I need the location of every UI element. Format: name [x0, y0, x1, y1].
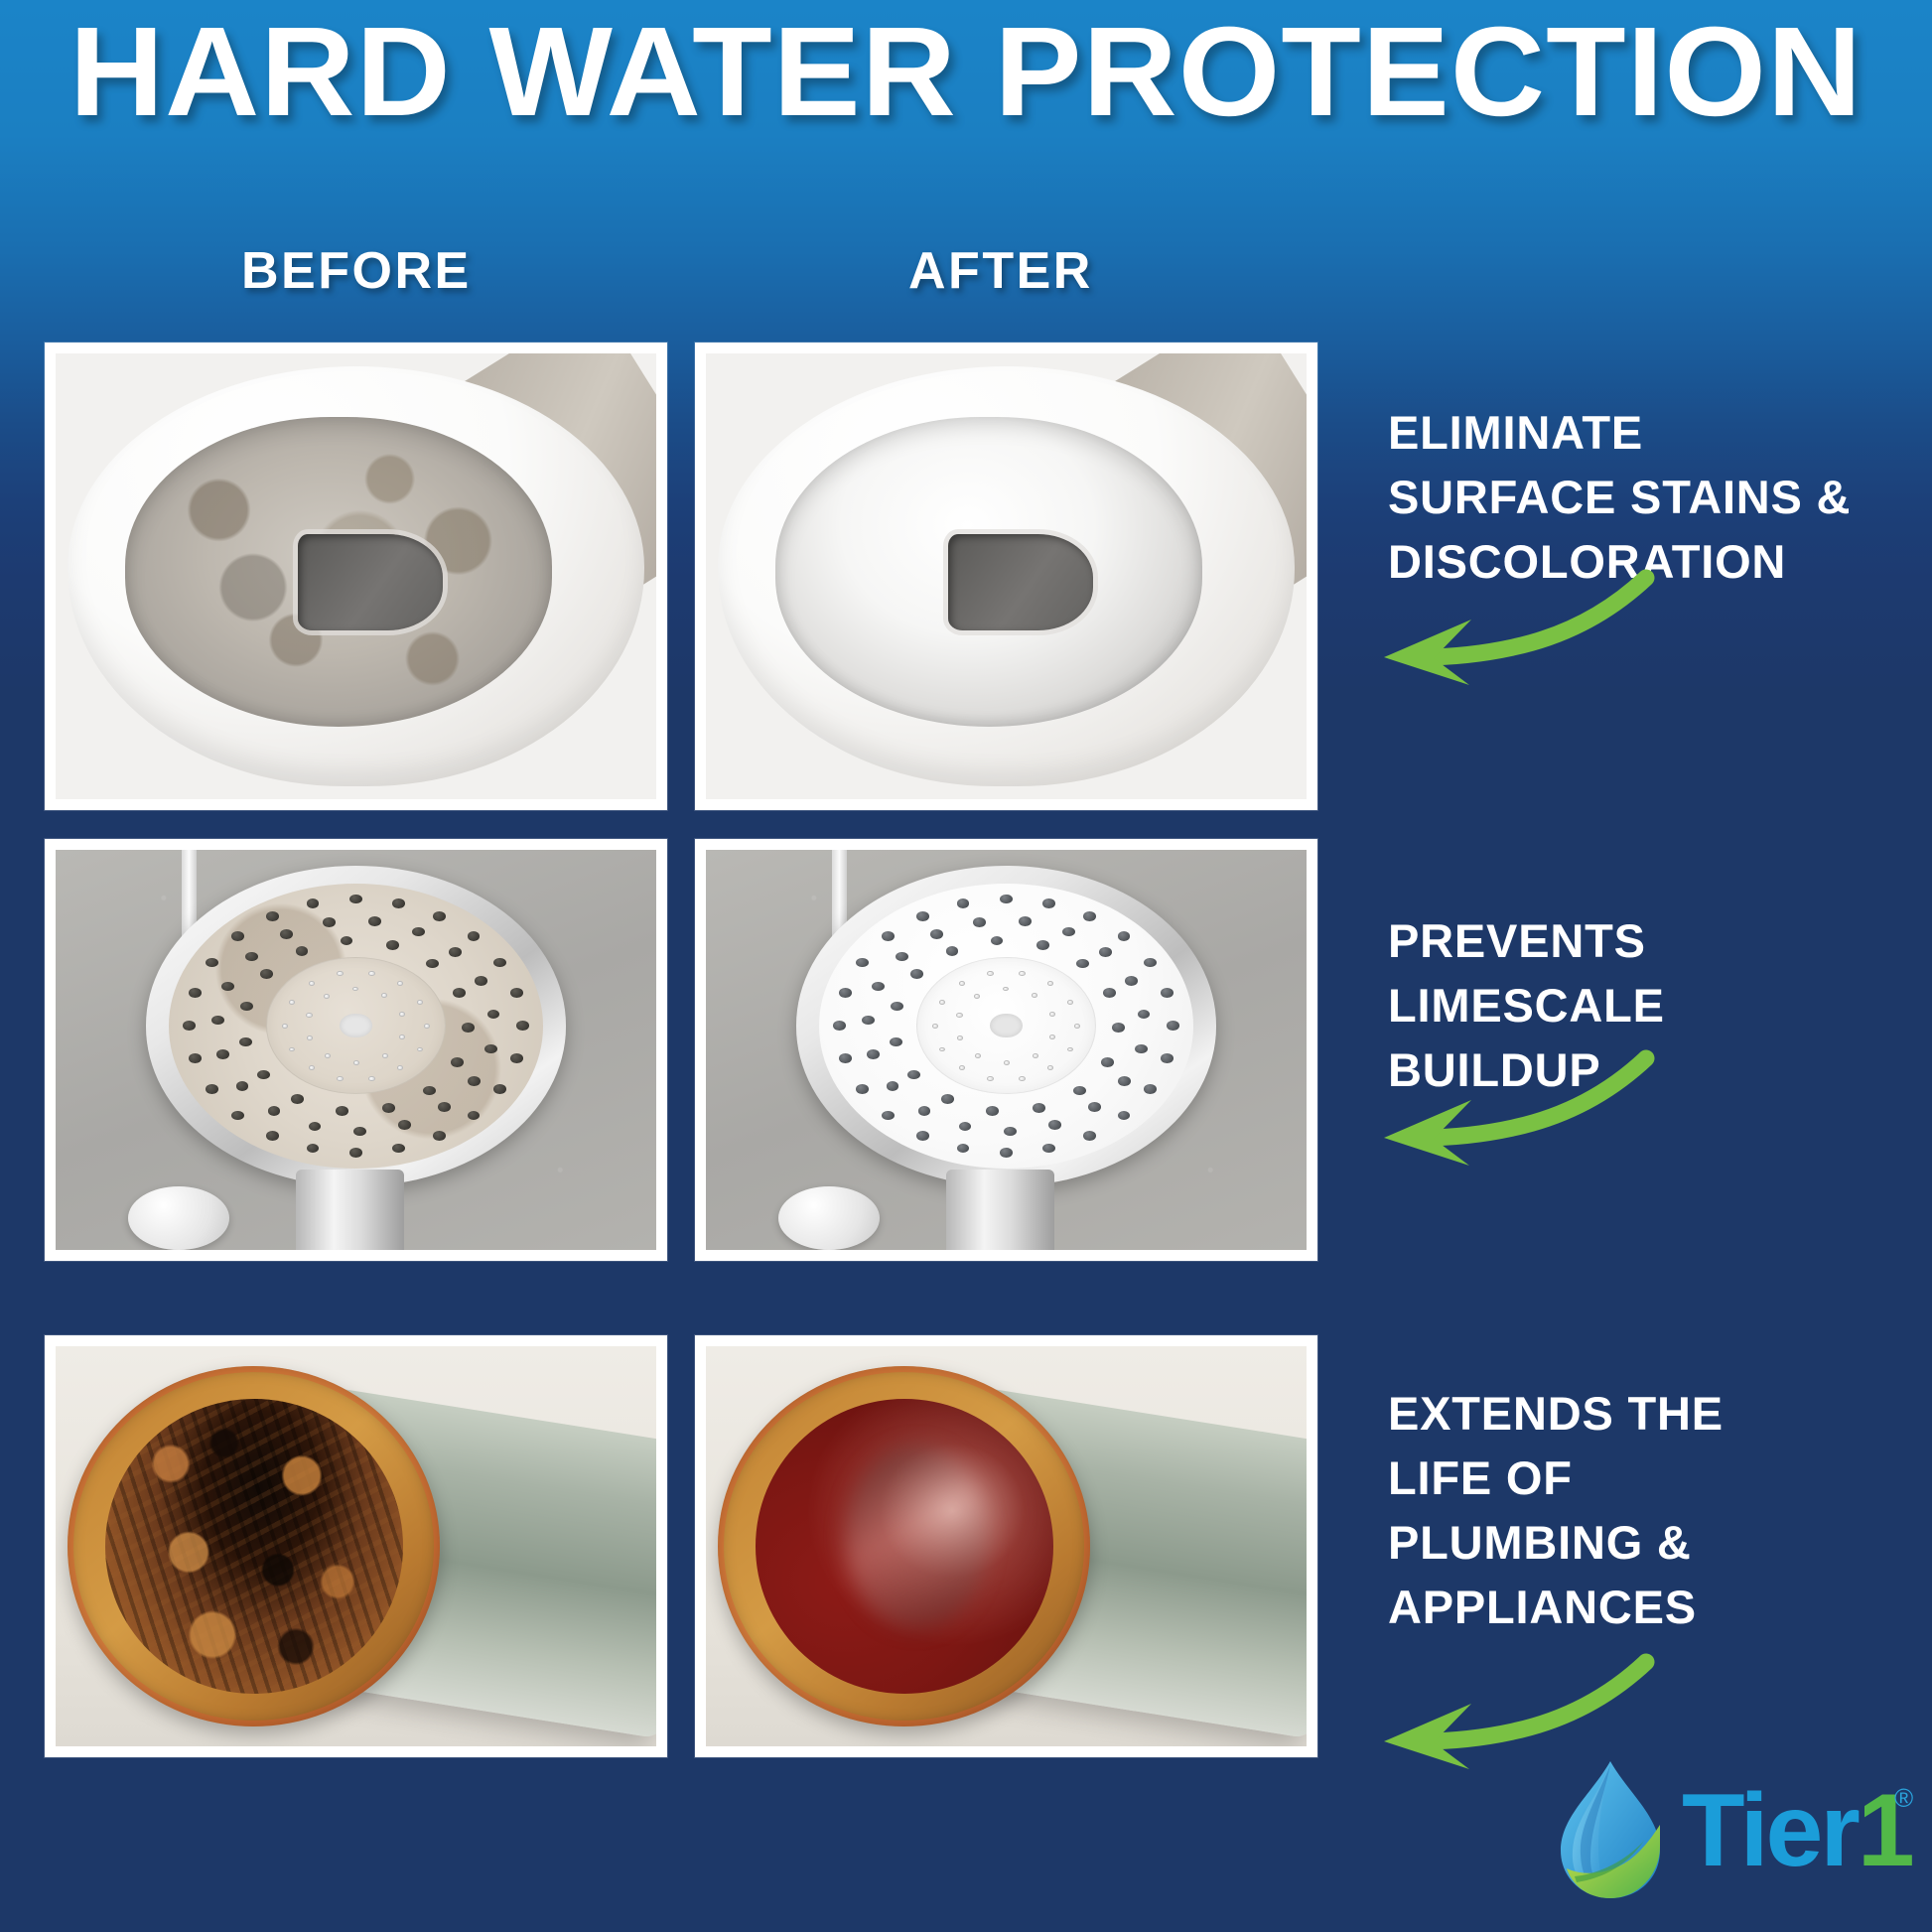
shower-nozzle — [856, 958, 869, 968]
shower-mist-nozzle — [382, 1053, 388, 1058]
shower-nozzle — [245, 952, 258, 962]
shower-nozzle — [1118, 1076, 1131, 1086]
feature-line: ELIMINATE — [1388, 401, 1924, 466]
shower-nozzle — [309, 1122, 322, 1132]
panel-pipe-after[interactable] — [695, 1335, 1317, 1757]
shower-nozzle — [386, 940, 399, 950]
panel-pipe-before[interactable] — [45, 1335, 667, 1757]
shower-nozzle — [1112, 1023, 1125, 1033]
showerhead-body — [146, 866, 567, 1185]
shower-nozzle — [916, 1131, 929, 1141]
shower-nozzle — [973, 917, 986, 927]
shower-mist-nozzle — [932, 1024, 938, 1029]
panel-showerhead-before[interactable] — [45, 839, 667, 1261]
photo-pipe-clean — [706, 1346, 1307, 1746]
shower-mist-nozzle — [956, 1013, 962, 1018]
shower-mist-nozzle — [309, 981, 315, 986]
shower-mist-nozzle — [1019, 971, 1025, 976]
water-drop-leaf-icon — [1545, 1755, 1672, 1909]
shower-nozzle — [1118, 931, 1131, 941]
shower-nozzle — [833, 1021, 846, 1031]
shower-nozzle — [1004, 1127, 1017, 1137]
shower-nozzle — [862, 1016, 875, 1026]
shower-nozzle — [353, 1127, 366, 1137]
shower-nozzle — [231, 931, 244, 941]
shower-nozzle — [930, 929, 943, 939]
shower-nozzle — [453, 988, 466, 998]
pipe-inner-lip — [68, 1366, 440, 1726]
toilet-drain-hole — [948, 534, 1092, 630]
shower-nozzle — [323, 917, 336, 927]
feature-line: PLUMBING & — [1388, 1511, 1924, 1576]
shower-nozzle — [867, 1049, 880, 1059]
shower-nozzle — [475, 976, 487, 986]
shower-nozzle — [231, 1111, 244, 1121]
shower-nozzle — [221, 982, 234, 992]
shower-nozzle — [341, 936, 353, 946]
shower-nozzle — [1101, 1057, 1114, 1067]
toilet-rim — [68, 366, 644, 785]
showerhead-hub — [990, 1014, 1022, 1037]
shower-nozzle — [382, 1103, 395, 1113]
shower-mist-nozzle — [959, 981, 965, 986]
shower-nozzle — [392, 898, 405, 908]
showerhead-center-disc — [916, 957, 1096, 1094]
showerhead-hub — [340, 1014, 371, 1037]
shower-nozzle — [206, 1084, 218, 1094]
shower-nozzle — [986, 1106, 999, 1116]
shower-mist-nozzle — [1074, 1024, 1080, 1029]
shower-nozzle — [510, 1053, 523, 1063]
infographic-root: HARD WATER PROTECTION BEFORE AFTER — [0, 0, 1932, 1932]
shower-nozzle — [957, 898, 970, 908]
shower-nozzle — [468, 931, 481, 941]
shower-nozzle — [1036, 940, 1049, 950]
shower-nozzle — [1048, 1120, 1061, 1130]
shower-nozzle — [991, 936, 1004, 946]
curved-arrow-icon — [1364, 1044, 1662, 1176]
shower-mist-nozzle — [1049, 1012, 1055, 1017]
shower-nozzle — [266, 1131, 279, 1141]
feature-line: APPLIANCES — [1388, 1576, 1924, 1640]
shower-mist-nozzle — [282, 1024, 288, 1029]
shower-nozzle — [189, 1053, 202, 1063]
shower-mist-nozzle — [957, 1035, 963, 1040]
feature-line: PREVENTS — [1388, 909, 1924, 974]
shower-nozzle — [484, 1044, 497, 1054]
registered-trademark-icon: ® — [1894, 1783, 1913, 1814]
shower-nozzle — [433, 1131, 446, 1141]
shower-mist-nozzle — [424, 1024, 430, 1029]
shower-nozzle — [1042, 1144, 1055, 1154]
shower-nozzle — [516, 1021, 529, 1031]
shower-nozzle — [216, 1049, 229, 1059]
shower-nozzle — [1103, 988, 1116, 998]
shower-nozzle — [1019, 916, 1032, 926]
shower-nozzle — [268, 1106, 281, 1116]
shower-nozzle — [468, 1111, 481, 1121]
shower-nozzle — [872, 982, 885, 992]
shower-nozzle — [1042, 898, 1055, 908]
shower-nozzle — [211, 1016, 224, 1026]
shower-nozzle — [236, 1081, 249, 1091]
shower-diverter-knob — [778, 1186, 881, 1250]
shower-mist-nozzle — [974, 994, 980, 999]
shower-mist-nozzle — [337, 971, 343, 976]
shower-nozzle — [468, 1076, 481, 1086]
shower-nozzle — [959, 1122, 972, 1132]
shower-nozzle — [891, 1002, 903, 1012]
showerhead-face-scaled — [169, 884, 543, 1169]
shower-nozzle — [462, 1023, 475, 1033]
showerhead-face-clean — [819, 884, 1193, 1169]
shower-mist-nozzle — [1033, 1053, 1038, 1058]
shower-nozzle — [426, 959, 439, 969]
brand-logo[interactable]: Tier1 ® — [1545, 1759, 1916, 1908]
showerhead-handle — [296, 1170, 404, 1250]
shower-nozzle — [882, 1111, 895, 1121]
shower-nozzle — [946, 946, 959, 956]
showerhead-handle — [946, 1170, 1054, 1250]
pipe-inner-lip — [718, 1366, 1090, 1726]
feature-lines: EXTENDS THE LIFE OF PLUMBING & APPLIANCE… — [1388, 1382, 1924, 1639]
shower-nozzle — [1083, 1131, 1096, 1141]
shower-nozzle — [910, 969, 923, 979]
shower-mist-nozzle — [306, 1013, 312, 1018]
shower-nozzle — [438, 1102, 451, 1112]
photo-showerhead-clean — [706, 850, 1307, 1250]
shower-nozzle — [1000, 895, 1013, 904]
feature-line: EXTENDS THE — [1388, 1382, 1924, 1447]
shower-nozzle — [882, 931, 895, 941]
shower-nozzle — [957, 1144, 970, 1154]
shower-mist-nozzle — [368, 1076, 374, 1081]
shower-mist-nozzle — [307, 1035, 313, 1040]
shower-nozzle — [890, 1037, 902, 1047]
shower-nozzle — [487, 1010, 500, 1020]
shower-nozzle — [493, 1084, 506, 1094]
shower-nozzle — [266, 911, 279, 921]
shower-nozzle — [907, 1070, 920, 1080]
toilet-drain-hole — [298, 534, 442, 630]
shower-nozzle — [240, 1002, 253, 1012]
shower-nozzle — [1088, 1102, 1101, 1112]
column-label-after: AFTER — [908, 241, 1093, 301]
photo-toilet-clean — [706, 353, 1307, 799]
shower-nozzle — [1000, 1148, 1013, 1158]
shower-nozzle — [941, 1094, 954, 1104]
logo-wordmark: Tier1 — [1682, 1779, 1912, 1882]
shower-nozzle — [1135, 1044, 1148, 1054]
shower-nozzle — [239, 1037, 252, 1047]
shower-nozzle — [839, 988, 852, 998]
panel-toilet-before[interactable] — [45, 343, 667, 810]
shower-nozzle — [307, 898, 320, 908]
shower-nozzle — [1144, 958, 1157, 968]
shower-nozzle — [896, 952, 908, 962]
shower-nozzle — [510, 988, 523, 998]
shower-mist-nozzle — [368, 971, 374, 976]
photo-pipe-corroded — [56, 1346, 656, 1746]
panel-showerhead-after[interactable] — [695, 839, 1317, 1261]
shower-nozzle — [307, 1144, 320, 1154]
shower-nozzle — [856, 1084, 869, 1094]
shower-nozzle — [1138, 1010, 1151, 1020]
shower-nozzle — [1062, 927, 1075, 937]
shower-nozzle — [451, 1057, 464, 1067]
shower-diverter-knob — [128, 1186, 230, 1250]
shower-mist-nozzle — [337, 1076, 343, 1081]
shower-nozzle — [368, 916, 381, 926]
shower-nozzle — [887, 1081, 899, 1091]
photo-showerhead-limescale — [56, 850, 656, 1250]
shower-mist-nozzle — [987, 971, 993, 976]
toilet-rim — [718, 366, 1295, 785]
shower-mist-nozzle — [399, 1012, 405, 1017]
feature-block-extends-life: EXTENDS THE LIFE OF PLUMBING & APPLIANCE… — [1388, 1382, 1924, 1639]
showerhead-center-disc — [266, 957, 446, 1094]
shower-nozzle — [433, 911, 446, 921]
feature-line: LIFE OF — [1388, 1447, 1924, 1511]
shower-nozzle — [1073, 1086, 1086, 1096]
panel-toilet-after[interactable] — [695, 343, 1317, 810]
shower-nozzle — [257, 1070, 270, 1080]
shower-nozzle — [1144, 1084, 1157, 1094]
shower-nozzle — [260, 969, 273, 979]
shower-nozzle — [183, 1021, 196, 1031]
page-title: HARD WATER PROTECTION — [0, 6, 1932, 139]
shower-mist-nozzle — [1019, 1076, 1025, 1081]
shower-mist-nozzle — [324, 994, 330, 999]
shower-nozzle — [918, 1106, 931, 1116]
shower-nozzle — [449, 947, 462, 957]
shower-nozzle — [349, 1148, 362, 1158]
showerhead-body — [796, 866, 1217, 1185]
shower-nozzle — [280, 929, 293, 939]
feature-line: LIMESCALE — [1388, 974, 1924, 1038]
shower-nozzle — [412, 927, 425, 937]
shower-nozzle — [1083, 911, 1096, 921]
logo-word-tier: Tier — [1682, 1773, 1858, 1888]
shower-nozzle — [1118, 1111, 1131, 1121]
column-label-before: BEFORE — [241, 241, 472, 301]
shower-nozzle — [423, 1086, 436, 1096]
photo-toilet-dirty — [56, 353, 656, 799]
shower-nozzle — [189, 988, 202, 998]
pipe-cut-face — [718, 1366, 1090, 1726]
shower-nozzle — [398, 1120, 411, 1130]
shower-nozzle — [1167, 1021, 1179, 1031]
shower-nozzle — [291, 1094, 304, 1104]
shower-nozzle — [206, 958, 218, 968]
pipe-cut-face — [68, 1366, 440, 1726]
shower-nozzle — [1125, 976, 1138, 986]
shower-mist-nozzle — [987, 1076, 993, 1081]
shower-nozzle — [1161, 1053, 1173, 1063]
shower-nozzle — [349, 895, 362, 904]
shower-nozzle — [1076, 959, 1089, 969]
shower-nozzle — [392, 1144, 405, 1154]
shower-nozzle — [493, 958, 506, 968]
curved-arrow-icon — [1364, 564, 1662, 696]
shower-nozzle — [1161, 988, 1173, 998]
shower-nozzle — [336, 1106, 348, 1116]
shower-nozzle — [1099, 947, 1112, 957]
shower-nozzle — [916, 911, 929, 921]
shower-nozzle — [1033, 1103, 1045, 1113]
feature-line: SURFACE STAINS & — [1388, 466, 1924, 530]
shower-nozzle — [296, 946, 309, 956]
shower-nozzle — [839, 1053, 852, 1063]
